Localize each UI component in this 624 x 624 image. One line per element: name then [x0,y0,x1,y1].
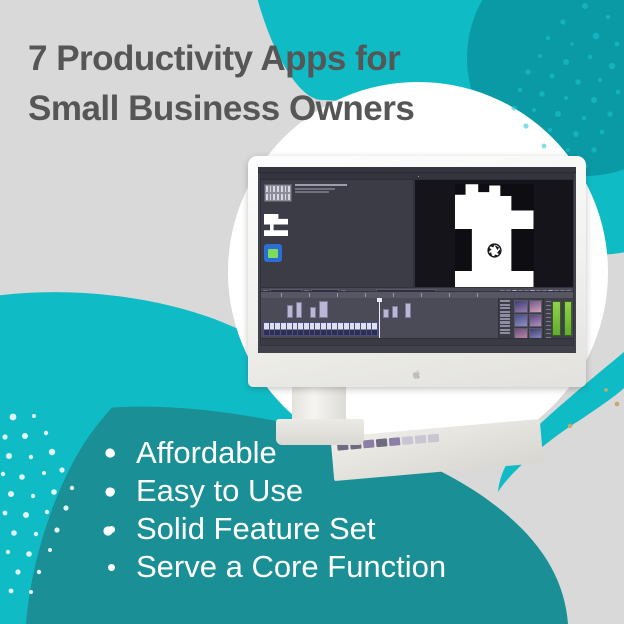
list-item-label: Affordable [136,435,277,470]
timeline-panel[interactable] [260,291,574,346]
title-line-2: Small Business Owners [28,84,498,134]
list-item: Solid Feature Set [100,510,446,548]
media-app-icon[interactable] [264,244,282,262]
video-editor-app: ▸ [258,167,576,353]
list-item-label: Solid Feature Set [136,511,376,546]
page-title: 7 Productivity Apps for Small Business O… [28,34,498,134]
media-browser-grid[interactable] [513,298,543,339]
media-thumbnail[interactable] [264,214,288,236]
audio-meter-left [552,301,561,336]
apple-logo-icon [413,369,422,380]
list-item: Serve a Core Function [100,548,446,586]
monitor-screen: ▸ [258,167,576,353]
timeline-statusbar [261,338,573,345]
audio-meter-right [564,301,573,336]
bullet-dot-icon [108,488,115,495]
media-thumbnail[interactable] [264,184,292,202]
bullet-dot-icon [108,450,115,457]
list-item-label: Serve a Core Function [136,549,446,584]
bullet-dot-icon [108,526,115,533]
monitor-stand-neck [292,385,346,423]
timeline-playhead[interactable] [379,298,380,339]
media-bin-item[interactable] [264,214,288,236]
timeline-video-track[interactable] [263,322,379,336]
poster-canvas: ▸ [0,0,624,624]
computer-monitor: ▸ [248,156,586,387]
title-line-1: 7 Productivity Apps for [28,34,498,84]
timeline-keyframe-blocks [265,302,411,318]
media-browser-panel[interactable] [498,298,543,339]
bullet-dot-icon [108,564,115,571]
aperture-icon [486,242,503,259]
timeline-tracks[interactable] [261,298,499,339]
list-item: Affordable [100,434,446,472]
meter-scale [546,301,551,336]
browser-thumbnail[interactable] [514,300,528,313]
media-bin-header [261,174,413,180]
media-bin-item[interactable] [264,244,282,262]
browser-thumbnail[interactable] [529,300,543,313]
list-item-label: Easy to Use [136,473,303,508]
browser-thumbnail[interactable] [529,314,543,327]
list-item: Easy to Use [100,472,446,510]
media-browser-list[interactable] [499,298,513,339]
feature-bullet-list: Affordable Easy to Use Solid Feature Set… [100,434,446,586]
audio-meters-panel[interactable] [543,298,572,339]
browser-thumbnail[interactable] [514,314,528,327]
media-bin-item[interactable] [264,184,355,202]
